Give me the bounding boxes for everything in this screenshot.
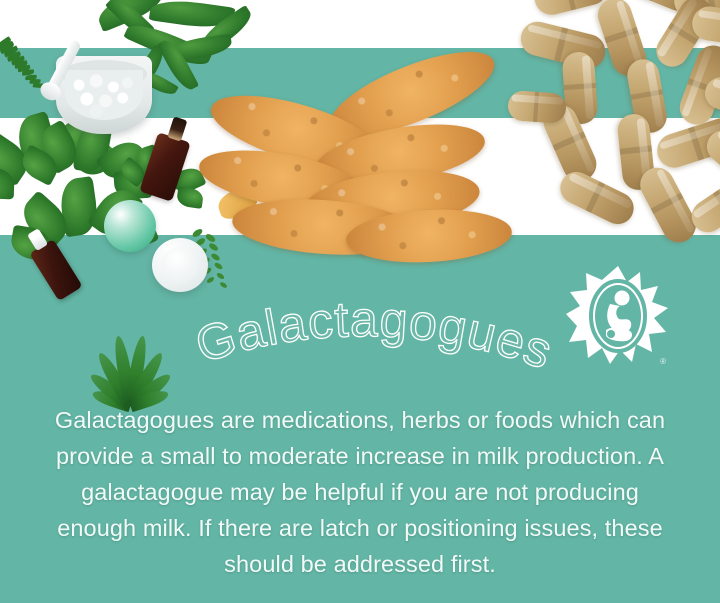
baby-head <box>607 330 615 338</box>
mortar-bowl-of-powder <box>56 56 152 134</box>
galactagogues-infographic-poster: Galactagogues ® Galactagogues are medica… <box>0 0 720 603</box>
herbal-capsules <box>524 0 720 248</box>
capsule-icon <box>507 90 567 124</box>
body-paragraph: Galactagogues are medications, herbs or … <box>40 402 680 582</box>
mother-and-baby-sunburst-logo: ® <box>566 264 670 374</box>
cream-jar <box>152 238 208 292</box>
capsule-icon <box>634 162 702 249</box>
mother-head <box>615 291 630 306</box>
green-gel-capsule <box>104 200 156 252</box>
lactation-cookie-stack <box>196 62 526 238</box>
registered-trademark-mark: ® <box>660 357 666 366</box>
